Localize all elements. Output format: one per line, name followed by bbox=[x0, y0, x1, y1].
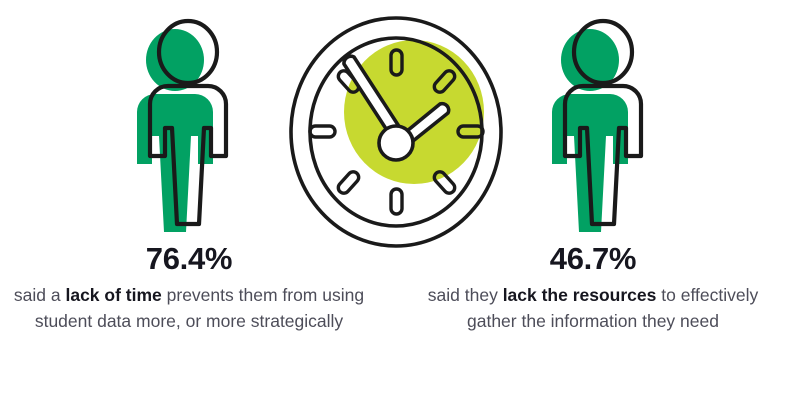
stat-description: said they lack the resources to effectiv… bbox=[413, 282, 773, 335]
clock-accent-circle bbox=[344, 40, 484, 184]
graphics-row bbox=[0, 0, 785, 248]
stat-description-lead: said they bbox=[428, 285, 503, 305]
right-figure-slot bbox=[530, 14, 670, 244]
stat-description-emphasis: lack of time bbox=[65, 285, 161, 305]
stat-description-lead: said a bbox=[14, 285, 66, 305]
left-figure-slot bbox=[115, 14, 255, 244]
person-figure-icon bbox=[530, 14, 670, 244]
stat-percent: 46.7% bbox=[413, 243, 773, 276]
statistics-row: 76.4% said a lack of time prevents them … bbox=[0, 243, 785, 407]
person-figure-icon bbox=[115, 14, 255, 244]
stat-percent: 76.4% bbox=[10, 243, 368, 276]
stat-block-time: 76.4% said a lack of time prevents them … bbox=[0, 243, 392, 334]
stat-block-resources: 46.7% said they lack the resources to ef… bbox=[393, 243, 785, 334]
stat-description: said a lack of time prevents them from u… bbox=[10, 282, 368, 335]
clock-center-hub bbox=[379, 126, 413, 160]
stat-description-emphasis: lack the resources bbox=[503, 285, 657, 305]
clock-slot bbox=[272, 12, 520, 252]
clock-icon bbox=[272, 12, 520, 252]
infographic-root: 76.4% said a lack of time prevents them … bbox=[0, 0, 785, 407]
